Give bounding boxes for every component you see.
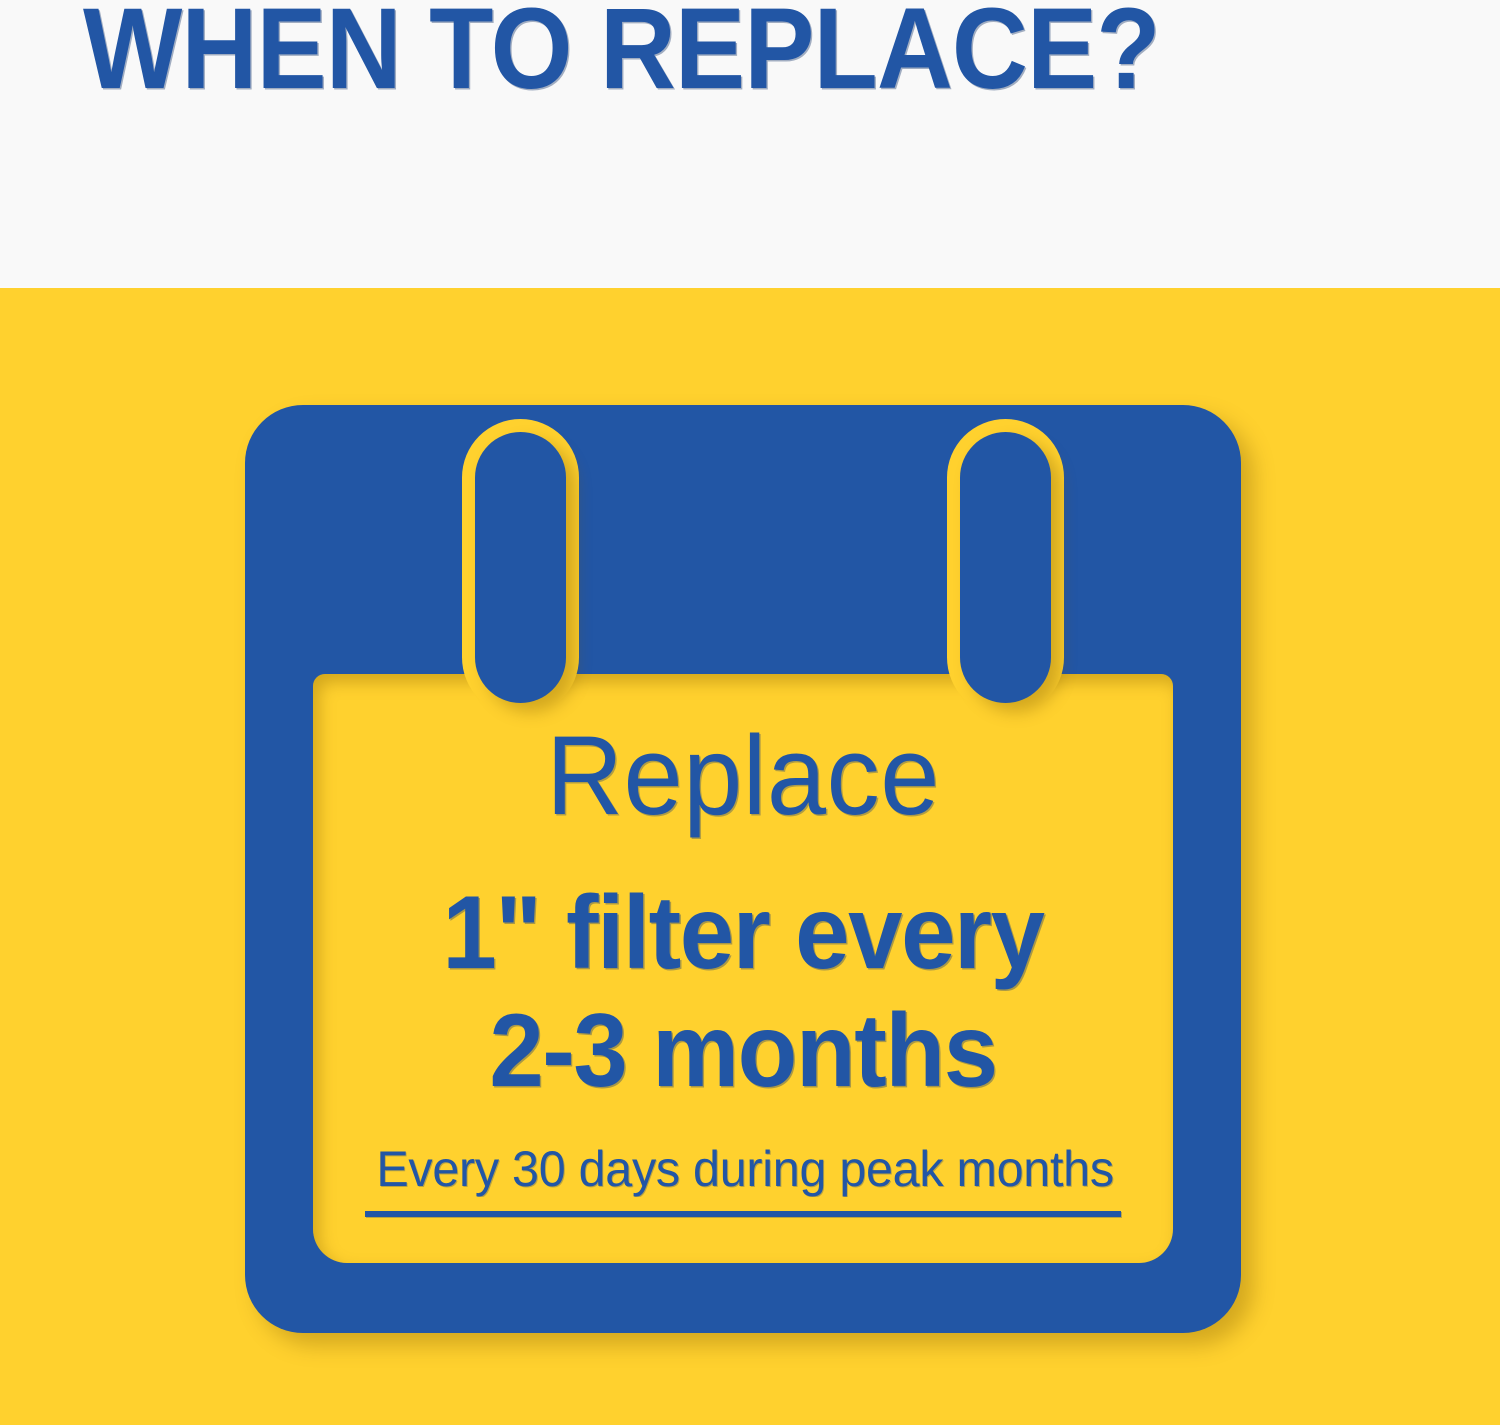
headline-line-1: 1" filter every <box>339 874 1147 992</box>
replace-headline: 1" filter every 2-3 months <box>339 874 1147 1110</box>
headline-line-2: 2-3 months <box>339 992 1147 1110</box>
page-title: WHEN TO REPLACE? <box>83 0 1108 104</box>
yellow-stage: Replace 1" filter every 2-3 months Every… <box>0 288 1500 1425</box>
calendar-ring-left <box>475 432 566 703</box>
calendar-page-content: Replace 1" filter every 2-3 months Every… <box>313 674 1173 1263</box>
infographic-when-to-replace: WHEN TO REPLACE? Replace 1" filter every… <box>0 0 1500 1425</box>
footnote-text: Every 30 days during peak months <box>376 1141 1109 1197</box>
calendar-ring-right <box>960 432 1051 703</box>
replace-eyebrow: Replace <box>335 720 1152 832</box>
footnote-block: Every 30 days during peak months <box>365 1141 1121 1217</box>
footnote-underline <box>365 1211 1121 1217</box>
calendar-page: Replace 1" filter every 2-3 months Every… <box>313 674 1173 1263</box>
header-band: WHEN TO REPLACE? <box>0 0 1500 286</box>
calendar-icon: Replace 1" filter every 2-3 months Every… <box>245 405 1241 1333</box>
